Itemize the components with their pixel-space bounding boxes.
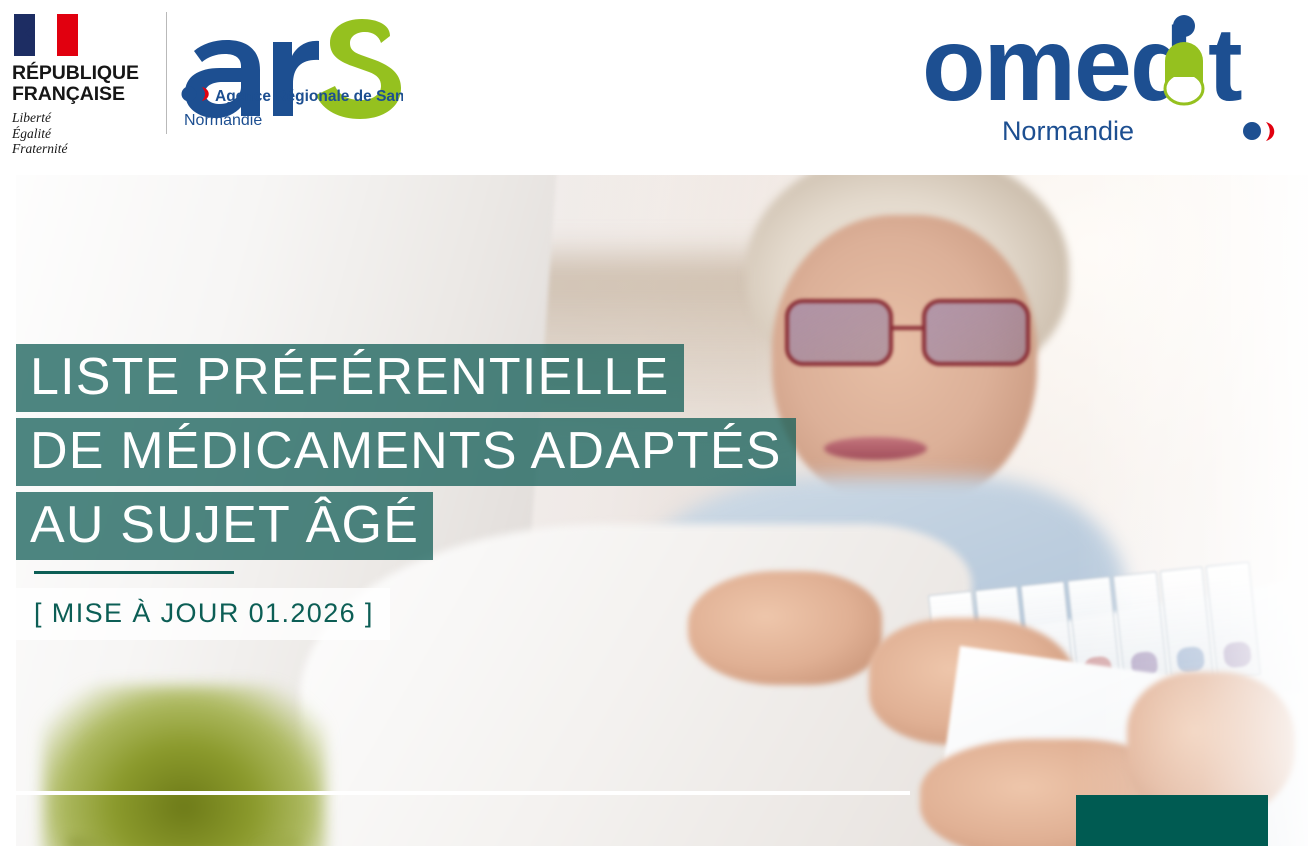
french-flag-marianne-icon (14, 14, 78, 56)
hero-title-line-3: AU SUJET ÂGÉ (16, 492, 433, 560)
ars-logo-svg: Agence Régionale de Santé Normandie (178, 18, 403, 140)
hero-bottom-rule (16, 791, 910, 795)
hero-title-line-2: DE MÉDICAMENTS ADAPTÉS (16, 418, 796, 486)
hero-bottom-accent-block (1076, 795, 1268, 846)
hero-banner: LISTE PRÉFÉRENTIELLE DE MÉDICAMENTS ADAP… (16, 175, 1308, 846)
title-row-3: AU SUJET ÂGÉ (16, 492, 1308, 560)
ars-normandie-logo: Agence Régionale de Santé Normandie (178, 18, 403, 140)
update-date-badge: [ MISE À JOUR 01.2026 ] (16, 588, 390, 640)
hero-title-block: LISTE PRÉFÉRENTIELLE DE MÉDICAMENTS ADAP… (16, 344, 1308, 640)
omedit-wordmark-left: omed (922, 14, 1191, 123)
omedit-normandie-logo: omed t Normandie (922, 14, 1282, 146)
omedit-region: Normandie (1002, 116, 1134, 146)
omedit-wordmark-right: t (1208, 14, 1243, 123)
omedit-bullet-blue-icon (1243, 122, 1261, 140)
republic-motto: Liberté Égalité Fraternité (12, 110, 160, 157)
ars-tagline: Agence Régionale de Santé (215, 88, 403, 105)
title-underline-rule (34, 571, 234, 574)
capsule-dot-icon (1173, 15, 1195, 37)
title-row-2: DE MÉDICAMENTS ADAPTÉS (16, 418, 1308, 486)
motto-egalite: Égalité (12, 126, 160, 142)
rf-line-1: RÉPUBLIQUE (12, 63, 160, 84)
rf-line-2: FRANÇAISE (12, 84, 160, 105)
ars-bullet-blue-icon (182, 87, 197, 102)
page-header: RÉPUBLIQUE FRANÇAISE Liberté Égalité Fra… (0, 0, 1308, 175)
omedit-logo-svg: omed t Normandie (922, 14, 1282, 146)
republique-francaise-wordmark: RÉPUBLIQUE FRANÇAISE (12, 63, 160, 104)
subtitle-row: [ MISE À JOUR 01.2026 ] (16, 588, 1308, 640)
title-row-1: LISTE PRÉFÉRENTIELLE (16, 344, 1308, 412)
hero-title-line-1: LISTE PRÉFÉRENTIELLE (16, 344, 684, 412)
motto-fraternite: Fraternité (12, 141, 160, 157)
motto-liberte: Liberté (12, 110, 160, 126)
cover-page: RÉPUBLIQUE FRANÇAISE Liberté Égalité Fra… (0, 0, 1308, 846)
header-divider (166, 12, 167, 134)
ars-region: Normandie (184, 112, 262, 129)
omedit-bullet-red-icon (1266, 122, 1274, 141)
republique-francaise-logo: RÉPUBLIQUE FRANÇAISE Liberté Égalité Fra… (10, 14, 160, 157)
